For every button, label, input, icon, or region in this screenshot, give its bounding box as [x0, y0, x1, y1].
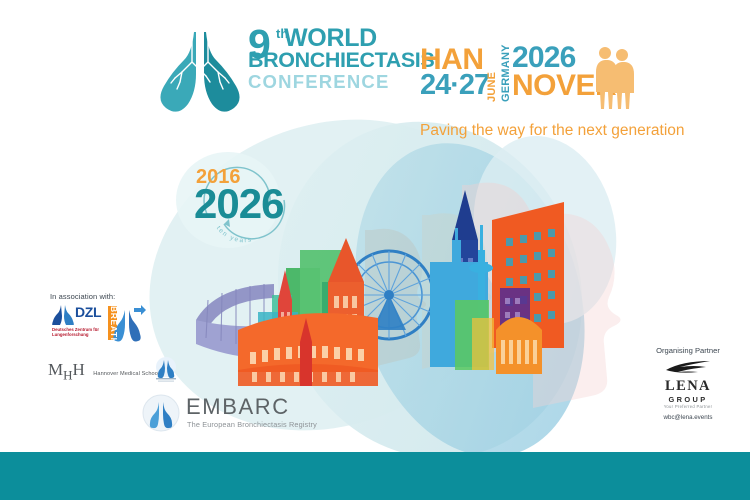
- event-date-city: HAN 24·27 JUNE GERMANY 2026 NOVER: [420, 46, 630, 116]
- title-line-bronchiectasis: BRONCHIECTASIS: [248, 50, 418, 72]
- dome-building: [496, 317, 542, 374]
- event-tagline: Paving the way for the next generation: [420, 122, 685, 140]
- title-line-conference: CONFERENCE: [248, 72, 418, 91]
- embarc-subtitle: The European Bronchiectasis Registry: [187, 420, 317, 429]
- lena-group: GROUP: [640, 395, 736, 404]
- event-days: 24·27: [420, 72, 489, 100]
- dzl-subtitle: Deutsches Zentrum für Lungenforschung: [52, 327, 108, 338]
- dzl-logo[interactable]: DZL Deutsches Zentrum für Lungenforschun…: [52, 303, 107, 343]
- mhh-acronym: MHH: [48, 360, 85, 379]
- event-country: GERMANY: [500, 58, 512, 102]
- breath-logo[interactable]: BREATH: [108, 304, 146, 342]
- bottom-color-bar: [0, 452, 750, 500]
- breath-acronym: BREATH: [109, 306, 119, 344]
- mhh-logo[interactable]: MHH Hannover Medical School: [48, 360, 178, 390]
- lungs-icon: [152, 26, 248, 112]
- embarc-name: EMBARC: [186, 394, 290, 420]
- conference-banner: 9 th WORLD BRONCHIECTASIS CONFERENCE HAN…: [0, 0, 750, 500]
- bronchial-tree: [171, 40, 229, 89]
- swoosh-icon: [662, 359, 714, 373]
- yellow-block: [472, 318, 494, 370]
- conference-title: WORLD BRONCHIECTASIS CONFERENCE: [248, 26, 418, 91]
- embarc-logo[interactable]: EMBARC The European Bronchiectasis Regis…: [142, 392, 317, 434]
- two-people-icon: [592, 44, 634, 110]
- organising-partner-contact[interactable]: wbc@lena.events: [640, 414, 736, 421]
- organising-partner: Organising Partner LENA GROUP Your Prefe…: [640, 346, 736, 408]
- lena-tagline: Your Preferred Partner: [640, 404, 736, 409]
- mhh-subtitle: Hannover Medical School: [93, 371, 159, 377]
- progress-lung-logo[interactable]: [154, 357, 178, 383]
- anniversary-badge: ten years 2016 2026: [186, 160, 306, 246]
- event-month: JUNE: [486, 68, 498, 102]
- association-label: In association with:: [50, 292, 115, 301]
- title-line-world: WORLD: [284, 26, 418, 50]
- lungs-left-lobe: [160, 32, 196, 112]
- lena-name: LENA: [640, 378, 736, 395]
- lungs-right-lobe: [204, 32, 240, 112]
- lungs-icon: [52, 303, 74, 325]
- anniversary-year-to: 2026: [194, 180, 283, 228]
- lungs-circle-icon: [142, 394, 180, 432]
- organising-partner-label: Organising Partner: [640, 346, 736, 355]
- dzl-acronym: DZL: [75, 304, 101, 320]
